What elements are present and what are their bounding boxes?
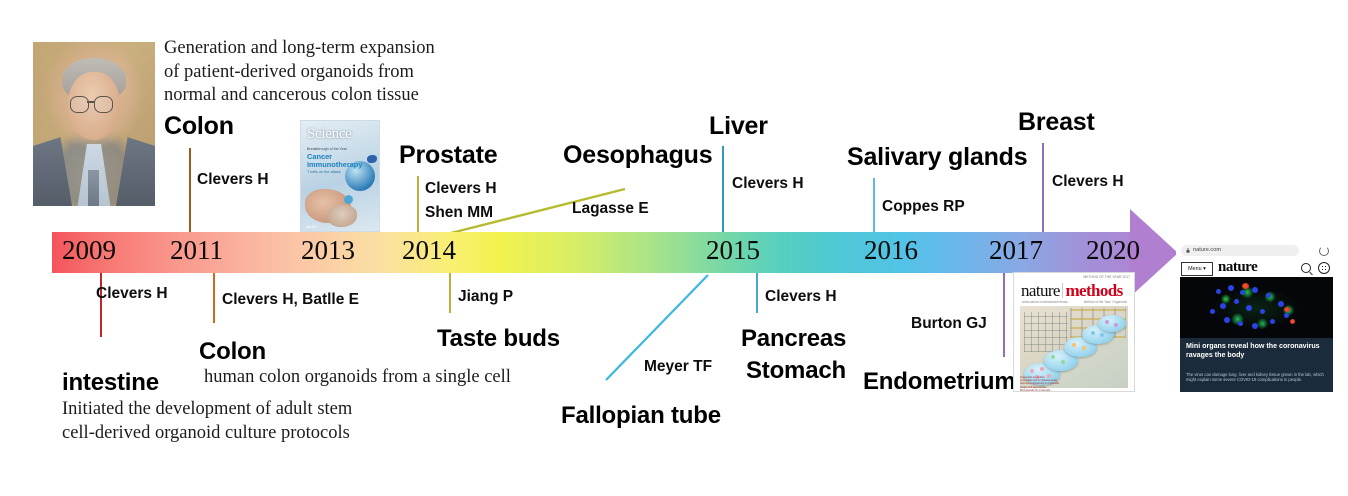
cover-art-dish bbox=[1098, 315, 1126, 332]
author-fallopian-tube: Meyer TF bbox=[644, 358, 712, 376]
author-pancreas-stomach: Clevers H bbox=[765, 288, 837, 306]
intestine-description-line-2: cell-derived organoid culture protocols bbox=[62, 422, 352, 446]
nature-methods-top-note: METHOD OF THE YEAR 2017 bbox=[1083, 275, 1130, 279]
leader-line-pancreas-stomach bbox=[756, 273, 758, 313]
colon-2011-description-line-1: Generation and long-term expansion bbox=[164, 37, 435, 61]
year-label-2009: 2009 bbox=[62, 235, 116, 266]
organoid-microscopy-image bbox=[1180, 277, 1333, 339]
year-label-2020: 2020 bbox=[1086, 235, 1140, 266]
nature-methods-footer-lines: Organoids as models A versatile tool for… bbox=[1020, 376, 1080, 390]
nature-methods-logo: naturemethods bbox=[1021, 281, 1123, 301]
nature-methods-tagline-right: Method of the Year: Organoids bbox=[1084, 300, 1127, 304]
science-logo: Science bbox=[307, 126, 352, 143]
colon-2011-description: Generation and long-term expansion of pa… bbox=[164, 37, 435, 108]
author-colon-below: Clevers H, Batlle E bbox=[222, 291, 359, 309]
search-icon[interactable] bbox=[1301, 263, 1311, 273]
eyeglasses-left-lens bbox=[70, 96, 89, 113]
organ-label-colon-above: Colon bbox=[164, 112, 234, 141]
nature-methods-tagline-left: www.nature.com/naturemethods bbox=[1022, 300, 1068, 304]
year-label-2013: 2013 bbox=[301, 235, 355, 266]
science-cover-subhead: T cells on the attack bbox=[307, 170, 341, 174]
year-label-2016: 2016 bbox=[864, 235, 918, 266]
intestine-description: Initiated the development of adult stem … bbox=[62, 398, 352, 445]
year-label-2017: 2017 bbox=[989, 235, 1043, 266]
author-intestine: Clevers H bbox=[96, 285, 168, 303]
organ-label-prostate: Prostate bbox=[399, 141, 497, 170]
portrait-jacket-right bbox=[116, 137, 155, 206]
colon-2011-description-line-2: of patient-derived organoids from bbox=[164, 61, 435, 85]
menu-button-label: Menu bbox=[1188, 266, 1202, 272]
eyeglasses-right-lens bbox=[94, 96, 113, 113]
organ-label-oesophagus: Oesophagus bbox=[563, 141, 712, 170]
science-cover-footer: AAAS bbox=[306, 224, 317, 229]
author-oesophagus: Lagasse E bbox=[572, 200, 649, 218]
author-endometrium: Burton GJ bbox=[911, 315, 987, 333]
portrait-tie bbox=[88, 170, 99, 206]
portrait-jacket-left bbox=[33, 137, 72, 206]
leader-line-taste-buds bbox=[449, 273, 451, 313]
nature-article-teaser[interactable]: Mini organs reveal how the coronavirus r… bbox=[1180, 338, 1333, 392]
reload-icon[interactable] bbox=[1319, 246, 1329, 256]
lock-icon bbox=[1186, 248, 1190, 253]
timeline-infographic: Science Breakthrough of the Year Cancer … bbox=[0, 0, 1348, 496]
leader-line-salivary-glands bbox=[873, 178, 875, 232]
eyeglasses-bridge bbox=[87, 101, 94, 103]
nature-methods-logo-methods: methods bbox=[1065, 281, 1122, 300]
year-label-2015: 2015 bbox=[706, 235, 760, 266]
author-liver: Clevers H bbox=[732, 175, 804, 193]
author-taste-buds: Jiang P bbox=[458, 288, 513, 306]
leader-line-prostate bbox=[417, 176, 419, 232]
nature-logo: nature bbox=[1218, 259, 1257, 276]
science-cover-art-hand-2 bbox=[327, 205, 357, 227]
organ-label-colon-below: Colon bbox=[199, 338, 266, 366]
grid-menu-icon[interactable] bbox=[1318, 262, 1330, 274]
author-colon-above: Clevers H bbox=[197, 171, 269, 189]
leader-line-endometrium bbox=[1003, 273, 1005, 357]
year-label-2011: 2011 bbox=[170, 235, 223, 266]
menu-button[interactable]: Menu ▾ bbox=[1181, 262, 1213, 276]
organ-label-salivary-glands: Salivary glands bbox=[847, 143, 1027, 172]
organ-label-pancreas: Pancreas bbox=[741, 325, 846, 353]
browser-url-bar[interactable]: nature.com bbox=[1181, 245, 1299, 256]
organ-label-taste-buds: Taste buds bbox=[437, 325, 560, 353]
leader-line-intestine bbox=[100, 273, 102, 337]
leader-line-liver bbox=[722, 146, 724, 232]
organ-label-liver: Liver bbox=[709, 112, 768, 141]
article-headline: Mini organs reveal how the coronavirus r… bbox=[1186, 342, 1324, 360]
colon-2011-description-line-3: normal and cancerous colon tissue bbox=[164, 84, 435, 108]
leader-line-breast bbox=[1042, 143, 1044, 232]
colon-below-description: human colon organoids from a single cell bbox=[204, 366, 511, 390]
year-label-2014: 2014 bbox=[402, 235, 456, 266]
organ-label-endometrium: Endometrium bbox=[863, 368, 1015, 396]
nature-com-webpage-screenshot: nature.com Menu ▾ nature bbox=[1176, 242, 1337, 394]
nature-methods-cover: METHOD OF THE YEAR 2017 naturemethods ww… bbox=[1013, 272, 1135, 392]
author-salivary-glands: Coppes RP bbox=[882, 198, 965, 216]
author-breast: Clevers H bbox=[1052, 173, 1124, 191]
hans-clevers-portrait-photo bbox=[33, 42, 155, 206]
organ-label-fallopian-tube: Fallopian tube bbox=[561, 402, 721, 430]
science-cover-headline: Cancer Immunotherapy bbox=[307, 153, 359, 169]
cover-art-grid bbox=[1024, 312, 1068, 352]
article-subhead: The virus can damage lung, liver and kid… bbox=[1186, 372, 1326, 383]
nature-methods-logo-nature: nature bbox=[1021, 281, 1060, 300]
science-magazine-cover: Science Breakthrough of the Year Cancer … bbox=[300, 120, 380, 232]
leader-line-colon-above bbox=[189, 148, 191, 232]
organ-label-stomach: Stomach bbox=[746, 357, 846, 385]
organ-label-intestine: intestine bbox=[62, 369, 159, 397]
nature-methods-logo-divider bbox=[1062, 283, 1064, 298]
science-cover-art-particle-2 bbox=[344, 195, 353, 204]
organ-label-breast: Breast bbox=[1018, 108, 1095, 137]
leader-line-colon-below bbox=[213, 273, 215, 323]
intestine-description-line-1: Initiated the development of adult stem bbox=[62, 398, 352, 422]
science-cover-kicker: Breakthrough of the Year bbox=[307, 147, 355, 151]
science-cover-art-particle bbox=[367, 155, 377, 163]
